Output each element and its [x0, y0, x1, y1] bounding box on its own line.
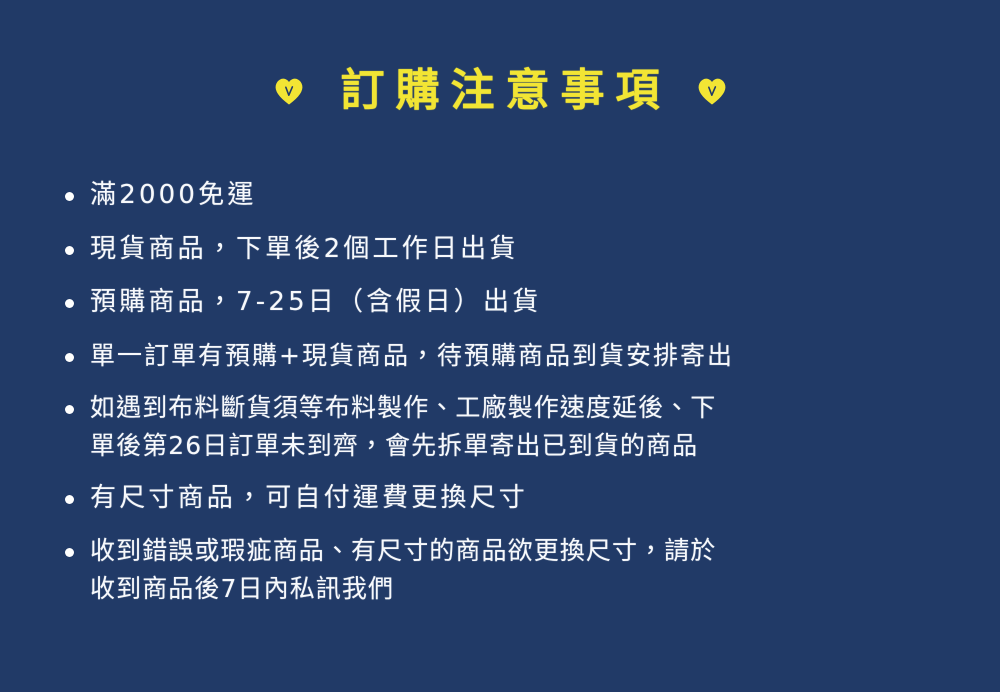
poster-title-row: 訂購注意事項 — [0, 68, 1000, 114]
bullet-dot-icon — [65, 548, 74, 557]
notice-text-line: 預購商品，7-25日（含假日）出貨 — [90, 283, 962, 323]
list-item: 收到錯誤或瑕疵商品、有尺寸的商品欲更換尺寸，請於 收到商品後7日內私訊我們 — [62, 532, 962, 608]
bullet-dot-icon — [65, 353, 74, 362]
bullet-dot-icon — [65, 299, 74, 308]
list-item: 單一訂單有預購+現貨商品，待預購商品到貨安排寄出 — [62, 337, 962, 375]
bullet-dot-icon — [65, 246, 74, 255]
notice-text-line: 有尺寸商品，可自付運費更換尺寸 — [90, 479, 962, 519]
notice-list: 滿2000免運 現貨商品，下單後2個工作日出貨 預購商品，7-25日（含假日）出… — [62, 176, 962, 608]
list-item: 如遇到布料斷貨須等布料製作、工廠製作速度延後、下 單後第26日訂單未到齊，會先拆… — [62, 389, 962, 465]
notice-text-line: 收到錯誤或瑕疵商品、有尺寸的商品欲更換尺寸，請於 — [90, 532, 962, 570]
heart-icon-right — [697, 77, 727, 105]
heart-icon-left — [274, 77, 304, 105]
bullet-dot-icon — [65, 405, 74, 414]
notice-text-line: 單一訂單有預購+現貨商品，待預購商品到貨安排寄出 — [90, 337, 962, 375]
notice-text-line: 如遇到布料斷貨須等布料製作、工廠製作速度延後、下 — [90, 389, 962, 427]
bullet-dot-icon — [65, 495, 74, 504]
notice-text-line-continued: 收到商品後7日內私訊我們 — [90, 570, 962, 608]
list-item: 滿2000免運 — [62, 176, 962, 216]
notice-poster: 訂購注意事項 滿2000免運 現貨商品，下單後2個工作日出貨 預購商品，7-25… — [0, 0, 1000, 692]
notice-text-line: 現貨商品，下單後2個工作日出貨 — [90, 230, 962, 270]
list-item: 預購商品，7-25日（含假日）出貨 — [62, 283, 962, 323]
notice-text-line-continued: 單後第26日訂單未到齊，會先拆單寄出已到貨的商品 — [90, 427, 962, 465]
page-title: 訂購注意事項 — [330, 68, 671, 114]
notice-text-line: 滿2000免運 — [90, 176, 962, 216]
bullet-dot-icon — [65, 192, 74, 201]
list-item: 有尺寸商品，可自付運費更換尺寸 — [62, 479, 962, 519]
list-item: 現貨商品，下單後2個工作日出貨 — [62, 230, 962, 270]
